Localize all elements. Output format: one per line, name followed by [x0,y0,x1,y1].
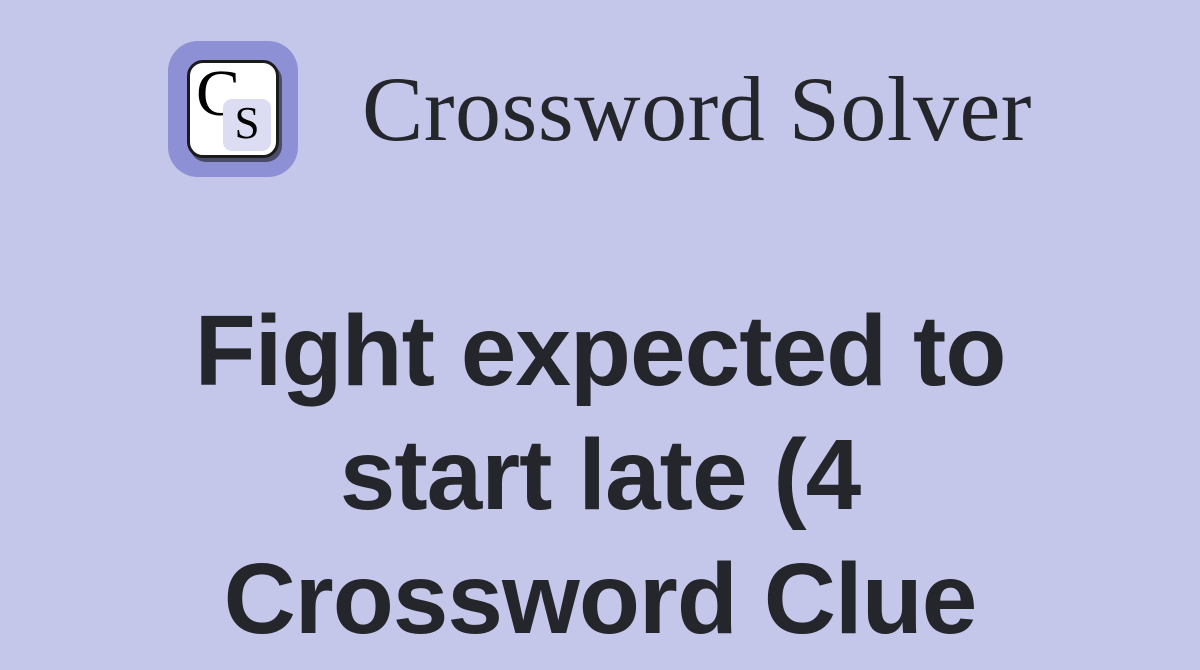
logo-s-badge: S [223,99,271,151]
crossword-solver-logo[interactable]: C S [168,41,298,177]
logo-letter-s: S [235,101,260,146]
clue-page: C S Crossword Solver Fight expected to s… [0,0,1200,670]
site-title[interactable]: Crossword Solver [362,63,1032,155]
page-title: Fight expected to start late (4 Crosswor… [60,289,1140,661]
brand-header: C S Crossword Solver [0,34,1200,184]
page-title-line-3: Crossword Clue [60,537,1140,661]
page-title-line-2: start late (4 [60,413,1140,537]
logo-card: C S [187,60,279,158]
page-title-line-1: Fight expected to [60,289,1140,413]
